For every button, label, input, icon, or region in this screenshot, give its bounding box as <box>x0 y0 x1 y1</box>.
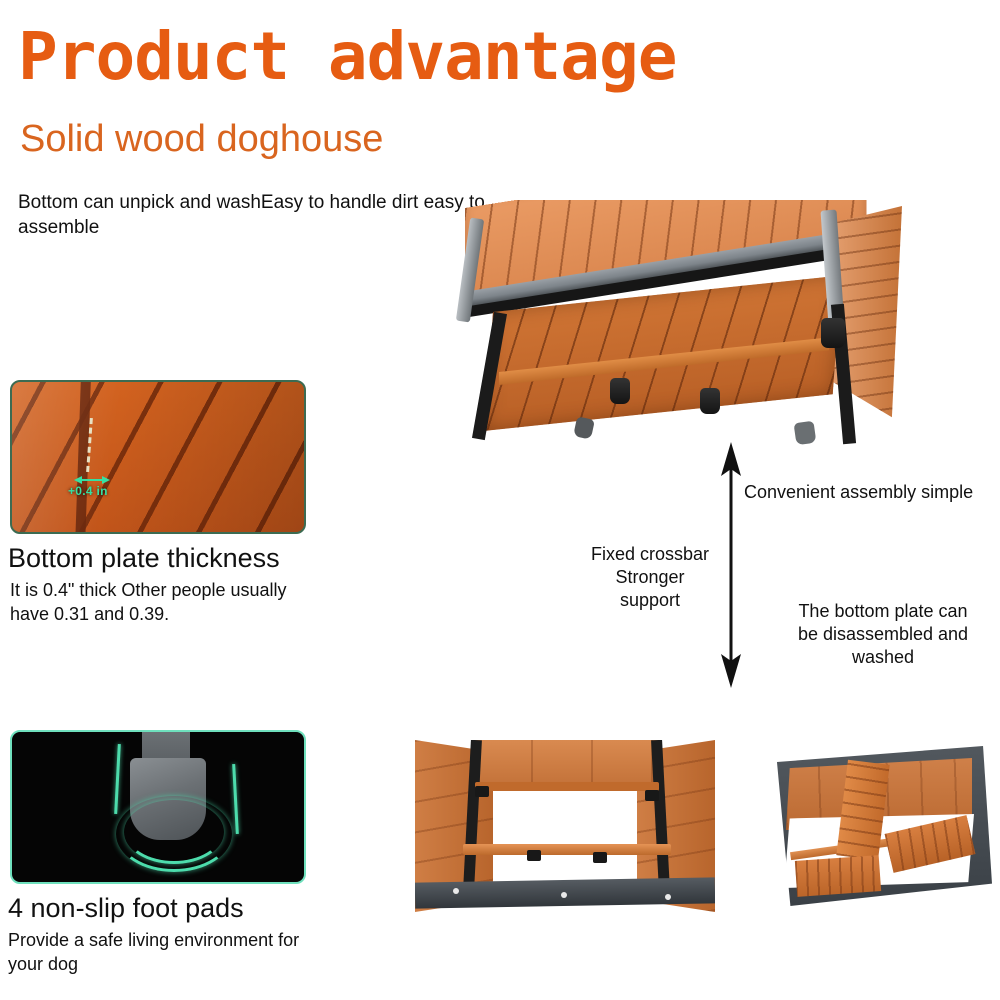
highlight-arc-inner <box>124 800 224 864</box>
foot-pad-icon <box>821 318 845 348</box>
crossbar-top <box>475 782 659 791</box>
vertical-double-arrow-icon <box>712 440 752 690</box>
crossbar-middle <box>463 844 671 855</box>
feature-body-bottom-plate-thickness: It is 0.4" thick Other people usually ha… <box>10 578 310 626</box>
annotation-bottom-plate-line1: The bottom plate can <box>766 600 1000 623</box>
screw-icon <box>453 888 459 894</box>
photo-bottom-plate-thickness: +0.4 in <box>10 380 306 534</box>
crossbar-bracket <box>645 790 659 801</box>
photo-shading <box>12 382 304 532</box>
annotation-fixed-crossbar: Fixed crossbar Stronger support <box>585 543 715 612</box>
page-title: Product advantage <box>18 22 677 92</box>
photo-frame-tilted-plates <box>760 740 1000 912</box>
feature-body-non-slip-foot-pads: Provide a safe living environment for yo… <box>8 928 308 976</box>
product-advantage-infographic: Product advantage Solid wood doghouse Bo… <box>0 0 1000 1000</box>
hero-product-photo <box>455 200 905 445</box>
annotation-fixed-crossbar-line2: Stronger support <box>585 566 715 612</box>
page-subtitle: Solid wood doghouse <box>20 117 383 161</box>
foot-pad-icon <box>610 378 630 404</box>
removable-bottom-plate <box>795 855 881 897</box>
foot-pad-icon <box>573 416 595 439</box>
annotation-fixed-crossbar-line1: Fixed crossbar <box>585 543 715 566</box>
crossbar-bracket <box>593 852 607 863</box>
crossbar-bracket <box>527 850 541 861</box>
feature-title-non-slip-foot-pads: 4 non-slip foot pads <box>8 892 244 924</box>
screw-icon <box>561 892 567 898</box>
foot-pad-icon <box>794 421 817 445</box>
annotation-bottom-plate: The bottom plate can be disassembled and… <box>766 600 1000 669</box>
screw-icon <box>665 894 671 900</box>
annotation-convenient-assembly: Convenient assembly simple <box>744 481 973 504</box>
thickness-measure-label: +0.4 in <box>68 484 108 498</box>
photo-frame-inside <box>415 740 715 912</box>
highlight-line-right <box>232 764 239 834</box>
photo-non-slip-foot-pad <box>10 730 306 884</box>
inside-wall-top <box>471 740 661 784</box>
foot-pad-icon <box>700 388 720 414</box>
annotation-bottom-plate-line2: be disassembled and washed <box>766 623 1000 669</box>
highlight-line-left <box>114 744 121 814</box>
crossbar-bracket <box>475 786 489 797</box>
intro-text: Bottom can unpick and washEasy to handle… <box>18 190 488 240</box>
feature-title-bottom-plate-thickness: Bottom plate thickness <box>8 542 280 574</box>
